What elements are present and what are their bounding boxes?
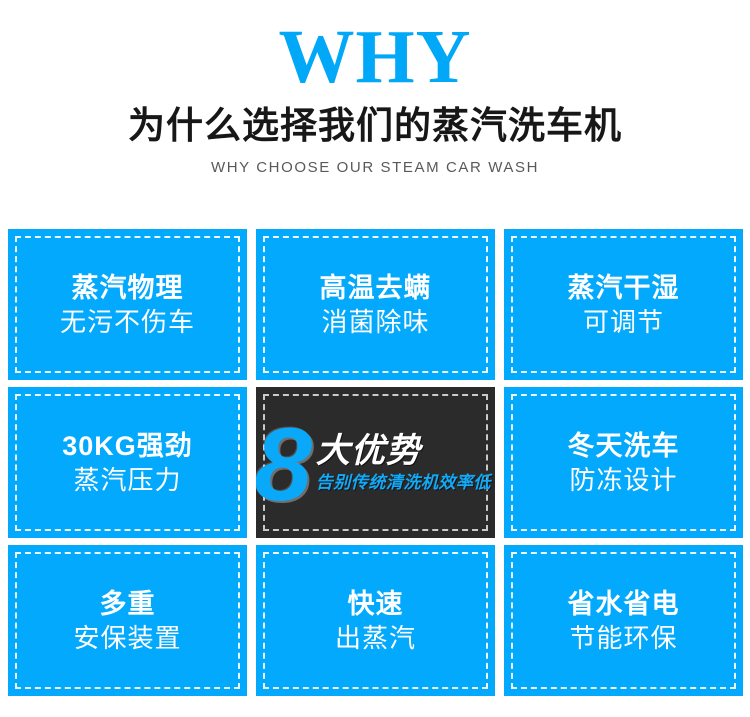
feature-grid: 蒸汽物理 无污不伤车 高温去螨 消菌除味 蒸汽干湿 可调节 30KG强劲 蒸汽压… (8, 229, 743, 696)
feature-subtitle: 可调节 (583, 305, 664, 339)
headline-group: 8 大优势 告别传统清洗机效率低 (256, 415, 491, 511)
headline-why: WHY (0, 18, 750, 96)
feature-cell-save-water-power: 省水省电 节能环保 (504, 545, 743, 696)
feature-title: 多重 (100, 587, 156, 621)
page-header: WHY 为什么选择我们的蒸汽洗车机 WHY CHOOSE OUR STEAM C… (0, 0, 750, 178)
headline-text-group: 大优势 告别传统清洗机效率低 (316, 432, 491, 494)
feature-cell-steam-wet-dry: 蒸汽干湿 可调节 (504, 229, 743, 380)
headline-main: 大优势 (316, 432, 421, 470)
feature-cell-pressure-30kg: 30KG强劲 蒸汽压力 (8, 387, 247, 538)
advantage-count: 8 (256, 417, 312, 513)
feature-subtitle: 蒸汽压力 (73, 463, 181, 497)
feature-subtitle: 节能环保 (569, 621, 677, 655)
feature-title: 30KG强劲 (62, 429, 193, 463)
center-headline-panel: 8 大优势 告别传统清洗机效率低 (256, 387, 495, 538)
feature-subtitle: 防冻设计 (569, 463, 677, 497)
feature-cell-winter-wash: 冬天洗车 防冻设计 (504, 387, 743, 538)
feature-subtitle: 消菌除味 (321, 305, 429, 339)
page-title: 为什么选择我们的蒸汽洗车机 (0, 104, 750, 148)
page-subtitle: WHY CHOOSE OUR STEAM CAR WASH (0, 158, 750, 178)
feature-subtitle: 安保装置 (73, 621, 181, 655)
feature-title: 快速 (348, 587, 404, 621)
feature-cell-steam-physics: 蒸汽物理 无污不伤车 (8, 229, 247, 380)
feature-title: 省水省电 (568, 587, 680, 621)
feature-cell-fast-steam: 快速 出蒸汽 (256, 545, 495, 696)
feature-title: 蒸汽干湿 (568, 271, 680, 305)
feature-subtitle: 出蒸汽 (335, 621, 416, 655)
headline-sub: 告别传统清洗机效率低 (316, 472, 491, 494)
feature-title: 冬天洗车 (568, 429, 680, 463)
feature-subtitle: 无污不伤车 (60, 305, 195, 339)
feature-cell-high-temp-mite: 高温去螨 消菌除味 (256, 229, 495, 380)
feature-cell-multi-safety: 多重 安保装置 (8, 545, 247, 696)
feature-title: 蒸汽物理 (72, 271, 184, 305)
feature-title: 高温去螨 (320, 271, 432, 305)
promo-page: WHY 为什么选择我们的蒸汽洗车机 WHY CHOOSE OUR STEAM C… (0, 0, 750, 717)
